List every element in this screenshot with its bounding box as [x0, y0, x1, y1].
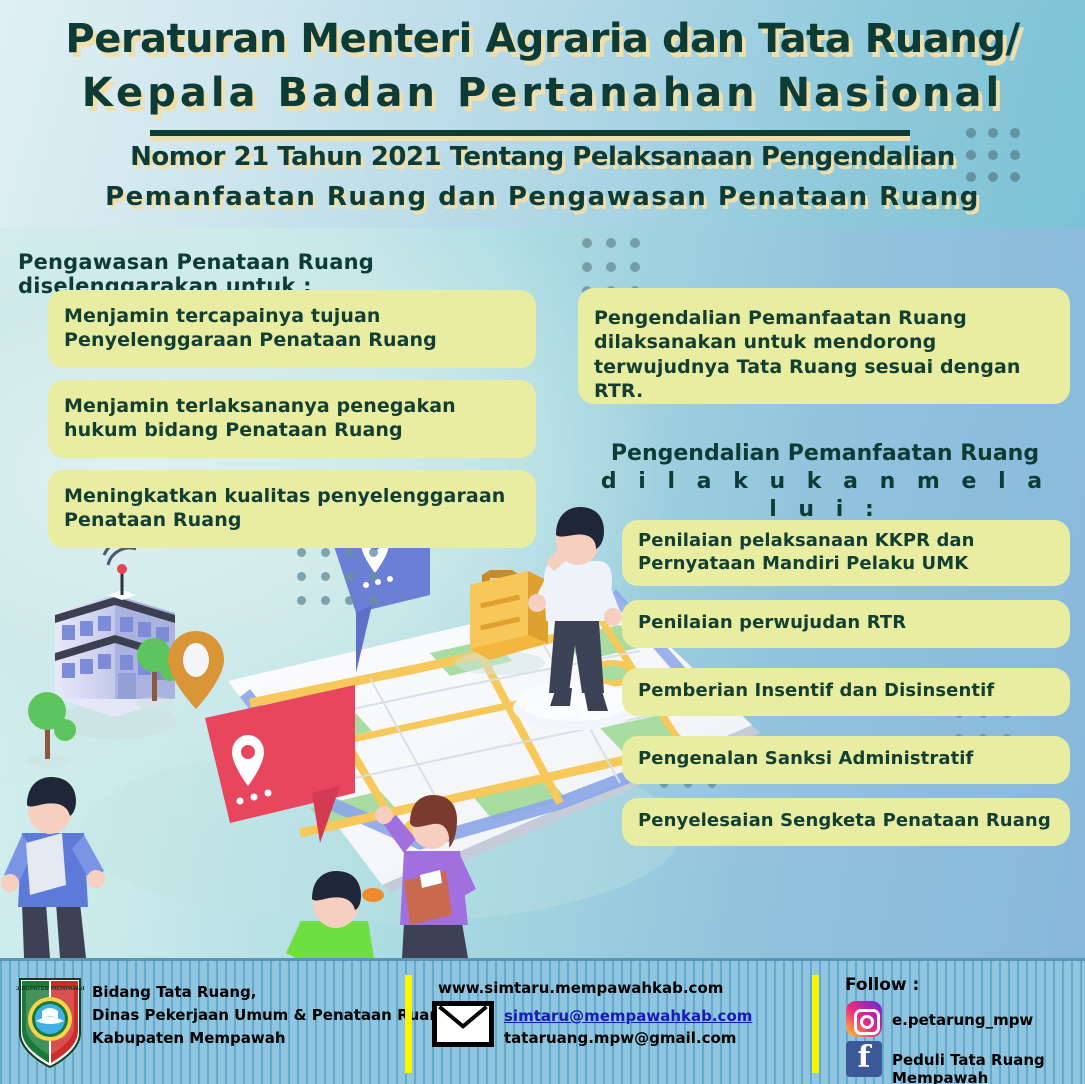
footer-follow-label: Follow :: [845, 975, 919, 995]
right-item-4: Pengenalan Sanksi Administratif: [622, 736, 1070, 784]
right-item-1: Penilaian pelaksanaan KKPR dan Pernyataa…: [622, 520, 1070, 586]
right-heading-line-2: d i l a k u k a n m e l a l u i :: [600, 468, 1050, 524]
right-item-3: Pemberian Insentif dan Disinsentif: [622, 668, 1070, 716]
dot-grid-mid-left: [297, 548, 385, 612]
tree: [26, 692, 76, 768]
orange-marker-dot: [362, 888, 384, 902]
right-item-5: Penyelesaian Sengketa Penataan Ruang: [622, 798, 1070, 846]
footer-email-1[interactable]: simtaru@mempawahkab.com: [504, 1007, 752, 1025]
footer-website[interactable]: www.simtaru.mempawahkab.com: [438, 979, 723, 997]
poster-body: Pengawasan Penataan Ruang diselenggaraka…: [0, 228, 1085, 958]
left-card-3: Meningkatkan kualitas penyelenggaraan Pe…: [48, 470, 536, 548]
facebook-icon[interactable]: f: [846, 1041, 882, 1077]
footer-divider-2: [812, 975, 819, 1073]
right-heading: Pengendalian Pemanfaatan Ruang d i l a k…: [600, 440, 1050, 524]
right-statement-card: Pengendalian Pemanfaatan Ruang dilaksana…: [578, 288, 1070, 404]
poster-title-line-1: Peraturan Menteri Agraria dan Tata Ruang…: [0, 16, 1085, 62]
logo-ring-text: KABUPATEN MEMPAWAH: [16, 986, 84, 992]
poster-title-line-2: Kepala Badan Pertanahan Nasional: [0, 70, 1085, 116]
left-card-1: Menjamin tercapainya tujuan Penyelenggar…: [48, 290, 536, 368]
footer-instagram-handle[interactable]: e.petarung_mpw: [892, 1011, 1033, 1029]
footer-org-line-3: Kabupaten Mempawah: [92, 1029, 286, 1047]
footer-divider-1: [405, 975, 412, 1073]
map-pin-orange: [168, 631, 224, 709]
envelope-icon: [432, 1001, 494, 1047]
person-with-folder: [1, 777, 105, 958]
right-heading-line-1: Pengendalian Pemanfaatan Ruang: [600, 440, 1050, 468]
footer-email-2[interactable]: tataruang.mpw@gmail.com: [504, 1029, 736, 1047]
poster-header: Peraturan Menteri Agraria dan Tata Ruang…: [0, 0, 1085, 228]
poster-footer: KABUPATEN MEMPAWAH Bidang Tata Ruang, Di…: [0, 958, 1085, 1084]
footer-facebook-page[interactable]: Peduli Tata Ruang Mempawah: [892, 1051, 1085, 1084]
left-card-2: Menjamin terlaksananya penegakan hukum b…: [48, 380, 536, 458]
poster-subtitle-line-1: Nomor 21 Tahun 2021 Tentang Pelaksanaan …: [0, 142, 1085, 172]
poster-subtitle-line-2: Pemanfaatan Ruang dan Pengawasan Penataa…: [0, 182, 1085, 212]
title-divider: [150, 130, 910, 136]
infographic-poster: Peraturan Menteri Agraria dan Tata Ruang…: [0, 0, 1085, 1084]
right-item-2: Penilaian perwujudan RTR: [622, 600, 1070, 648]
suitcase: [455, 570, 548, 675]
kabupaten-mempawah-logo: KABUPATEN MEMPAWAH: [16, 975, 84, 1071]
instagram-icon[interactable]: [846, 1001, 882, 1037]
footer-org-line-1: Bidang Tata Ruang,: [92, 983, 256, 1001]
footer-org-line-2: Dinas Pekerjaan Umum & Penataan Ruang: [92, 1006, 451, 1024]
